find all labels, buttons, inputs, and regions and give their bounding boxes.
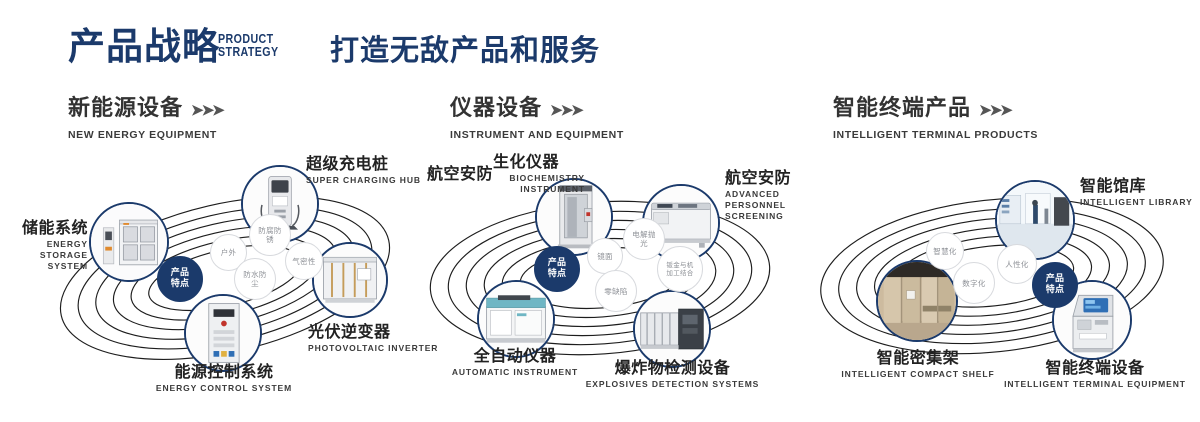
page-title-en: PRODUCT STRATEGY xyxy=(218,32,279,58)
feature-text: 户外 xyxy=(221,248,237,257)
feature-bubble-intelligence: 智慧化 xyxy=(926,232,964,270)
node-energy-control-system[interactable] xyxy=(184,294,262,372)
label-en: ENERGY STORAGE SYSTEM xyxy=(0,239,88,272)
label-en: ENERGY CONTROL SYSTEM xyxy=(84,383,364,394)
section-heading-en: INSTRUMENT AND EQUIPMENT xyxy=(450,129,624,141)
product-strategy-infographic: 产品战略 PRODUCT STRATEGY 打造无敌产品和服务 新能源设备➤➤➤… xyxy=(0,0,1200,422)
label-cn: 航空安防 xyxy=(427,164,493,183)
feature-core-bubble: 产品特点 xyxy=(157,256,203,302)
explosives-detection-system-photo xyxy=(635,292,709,366)
section-heading-cn: 新能源设备➤➤➤ xyxy=(68,96,223,124)
feature-bubble-humanization: 人性化 xyxy=(997,244,1037,284)
feature-core-bubble: 产品特点 xyxy=(534,246,580,292)
feature-bubble-airtight: 气密性 xyxy=(285,242,323,280)
label-cn: 智能馆库 xyxy=(1080,176,1193,195)
feature-text: 人性化 xyxy=(1005,260,1028,269)
feature-bubble-waterproof: 防水防尘 xyxy=(234,258,276,300)
compact-shelving-photo xyxy=(878,262,956,340)
photovoltaic-inverter-photo xyxy=(314,244,386,316)
feature-core-text: 产品特点 xyxy=(1046,274,1065,296)
feature-text: 防水防尘 xyxy=(242,270,268,288)
feature-text: 数字化 xyxy=(962,279,985,288)
label-energy-control-system: 能源控制系统 ENERGY CONTROL SYSTEM xyxy=(84,362,364,394)
label-en: INTELLIGENT TERMINAL EQUIPMENT xyxy=(960,379,1200,390)
feature-text: 防腐防锈 xyxy=(257,226,283,244)
feature-text: 零缺陷 xyxy=(603,287,629,296)
section-heading-cn-text: 新能源设备 xyxy=(68,96,183,121)
label-en: BIOCHEMISTRY INSTRUMENT xyxy=(493,173,585,195)
label-cn: 储能系统 xyxy=(0,218,88,237)
cluster-intelligent-terminal: 智能馆库 INTELLIGENT LIBRARY 智能密集架 INT xyxy=(800,150,1190,405)
section-heading-instrument: 仪器设备➤➤➤ INSTRUMENT AND EQUIPMENT xyxy=(450,96,624,141)
section-heading-cn-text: 智能终端产品 xyxy=(833,96,971,121)
label-biochemistry-instrument: 生化仪器 BIOCHEMISTRY INSTRUMENT xyxy=(493,152,585,195)
label-cn: 能源控制系统 xyxy=(84,362,364,381)
section-heading-cn: 仪器设备➤➤➤ xyxy=(450,96,624,124)
cluster-new-energy: 储能系统 ENERGY STORAGE SYSTEM 超级充电桩 SUPER C… xyxy=(40,150,410,405)
label-intelligent-terminal-equipment: 智能终端设备 INTELLIGENT TERMINAL EQUIPMENT xyxy=(960,358,1200,390)
section-heading-en: NEW ENERGY EQUIPMENT xyxy=(68,129,223,141)
page-title-en-line2: STRATEGY xyxy=(218,45,279,58)
feature-bubble-electropolish: 电解抛光 xyxy=(623,218,665,260)
node-intelligent-compact-shelf[interactable] xyxy=(876,260,958,342)
label-super-charging-hub: 超级充电桩 SUPER CHARGING HUB xyxy=(306,154,421,186)
feature-core-bubble: 产品特点 xyxy=(1032,262,1078,308)
section-heading-en: INTELLIGENT TERMINAL PRODUCTS xyxy=(833,129,1038,141)
automatic-instrument-photo xyxy=(479,282,553,356)
node-explosives-detection-system[interactable] xyxy=(633,290,711,368)
node-energy-storage-system[interactable] xyxy=(89,202,169,282)
feature-bubble-zero-defect: 零缺陷 xyxy=(595,270,637,312)
chevron-right-icon: ➤➤➤ xyxy=(979,102,1011,119)
feature-text: 电解抛光 xyxy=(631,230,657,248)
cluster-instrument: 航空安防 生化仪器 BIOCHEMISTRY INSTRUMENT 航空安防 A… xyxy=(415,150,790,405)
chevron-right-icon: ➤➤➤ xyxy=(550,102,582,119)
section-heading-new-energy: 新能源设备➤➤➤ NEW ENERGY EQUIPMENT xyxy=(68,96,223,141)
feature-bubble-mirror: 镜面 xyxy=(587,238,623,274)
feature-bubble-anticorrosion: 防腐防锈 xyxy=(249,214,291,256)
feature-text: 镜面 xyxy=(597,252,613,261)
feature-text: 智慧化 xyxy=(933,247,956,256)
label-cn: 智能终端设备 xyxy=(960,358,1200,377)
label-en: INTELLIGENT LIBRARY xyxy=(1080,197,1193,208)
chevron-right-icon: ➤➤➤ xyxy=(191,102,223,119)
section-heading-cn: 智能终端产品➤➤➤ xyxy=(833,96,1038,124)
label-cn: 生化仪器 xyxy=(493,152,585,171)
feature-core-text: 产品特点 xyxy=(548,258,567,280)
page-title-cn: 产品战略 xyxy=(68,28,220,65)
label-cn: 超级充电桩 xyxy=(306,154,421,173)
label-cn: 爆炸物检测设备 xyxy=(550,358,795,377)
energy-control-cabinet-photo xyxy=(186,296,260,370)
label-energy-storage-system: 储能系统 ENERGY STORAGE SYSTEM xyxy=(0,218,88,272)
feature-text: 钣金与机加工结合 xyxy=(664,261,696,277)
label-intelligent-library: 智能馆库 INTELLIGENT LIBRARY xyxy=(1080,176,1193,208)
section-heading-intelligent-terminal: 智能终端产品➤➤➤ INTELLIGENT TERMINAL PRODUCTS xyxy=(833,96,1038,141)
section-heading-cn-text: 仪器设备 xyxy=(450,96,542,121)
node-photovoltaic-inverter[interactable] xyxy=(312,242,388,318)
feature-bubble-sheetmetal-machining: 钣金与机加工结合 xyxy=(657,246,703,292)
label-en: SUPER CHARGING HUB xyxy=(306,175,421,186)
energy-storage-cabinet-photo xyxy=(91,204,167,280)
label-aviation-security-left: 航空安防 xyxy=(427,164,493,183)
feature-core-text: 产品特点 xyxy=(171,268,190,290)
label-explosives-detection-system: 爆炸物检测设备 EXPLOSIVES DETECTION SYSTEMS xyxy=(550,358,795,390)
page-header: 产品战略 PRODUCT STRATEGY 打造无敌产品和服务 xyxy=(0,0,1200,90)
page-subtitle: 打造无敌产品和服务 xyxy=(330,36,600,65)
feature-bubble-digitalization: 数字化 xyxy=(953,262,995,304)
label-en: EXPLOSIVES DETECTION SYSTEMS xyxy=(550,379,795,390)
feature-text: 气密性 xyxy=(291,257,317,266)
